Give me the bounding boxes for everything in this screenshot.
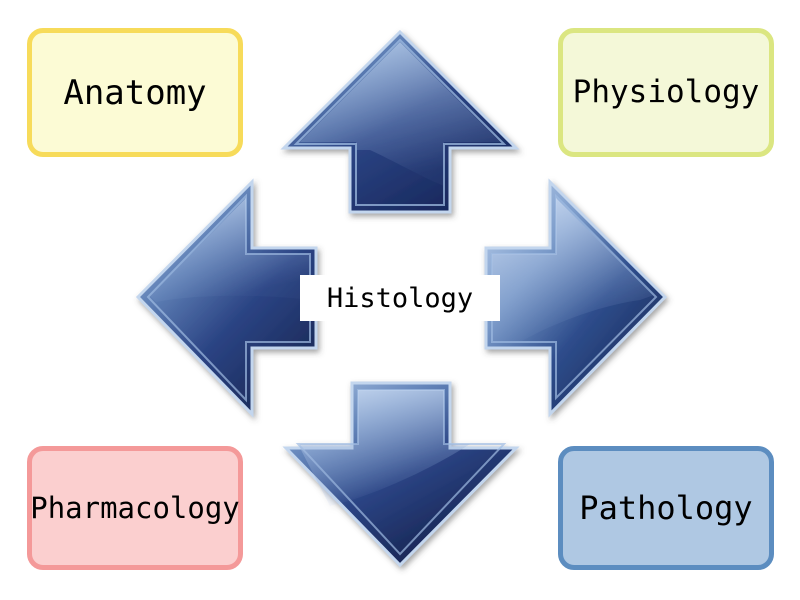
arrow-down-icon [286,383,516,565]
arrow-left-icon [138,182,316,414]
concept-box-anatomy-label: Anatomy [63,76,206,110]
concept-box-pathology-label: Pathology [579,492,752,524]
concept-box-pathology[interactable]: Pathology [558,446,774,570]
arrow-right-icon [486,182,665,414]
concept-box-physiology-label: Physiology [573,77,760,108]
center-node-label: Histology [300,275,500,321]
arrow-up-icon [284,32,516,212]
concept-box-anatomy[interactable]: Anatomy [27,28,243,157]
concept-box-pharmacology-label: Pharmacology [30,494,240,523]
diagram-canvas: Histology Anatomy Physiology Pharmacolog… [0,0,800,600]
concept-box-physiology[interactable]: Physiology [558,28,774,157]
concept-box-pharmacology[interactable]: Pharmacology [27,446,243,570]
